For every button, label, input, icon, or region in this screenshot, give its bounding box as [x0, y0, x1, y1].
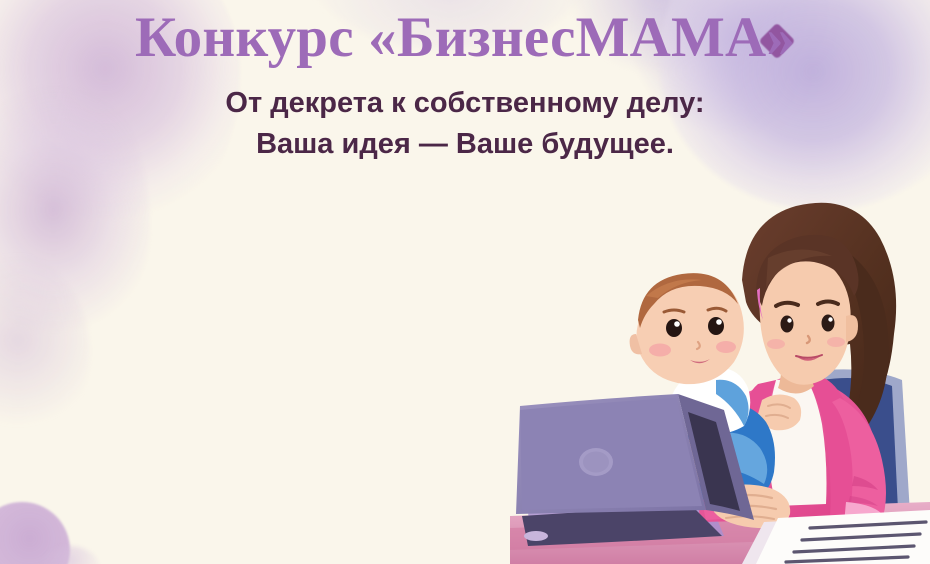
poster-title: Конкурс «БизнесМАМА» [0, 0, 930, 67]
poster-subtitle-line-1: От декрета к собственному делу: [0, 83, 930, 124]
illustration-mother-with-baby-at-laptop [510, 184, 930, 564]
watercolor-blob-bottom-left [0, 502, 70, 564]
poster-subtitle: От декрета к собственному делу: Ваша иде… [0, 67, 930, 165]
illustration-svg [510, 184, 930, 564]
poster-subtitle-line-2: Ваша идея — Ваше будущее. [0, 124, 930, 165]
headline-block: Конкурс «БизнесМАМА» От декрета к собств… [0, 0, 930, 165]
poster-canvas: Конкурс «БизнесМАМА» От декрета к собств… [0, 0, 930, 564]
watercolor-blob-bottom-left-two [40, 546, 100, 564]
watercolor-wash-left-lower [0, 250, 90, 450]
